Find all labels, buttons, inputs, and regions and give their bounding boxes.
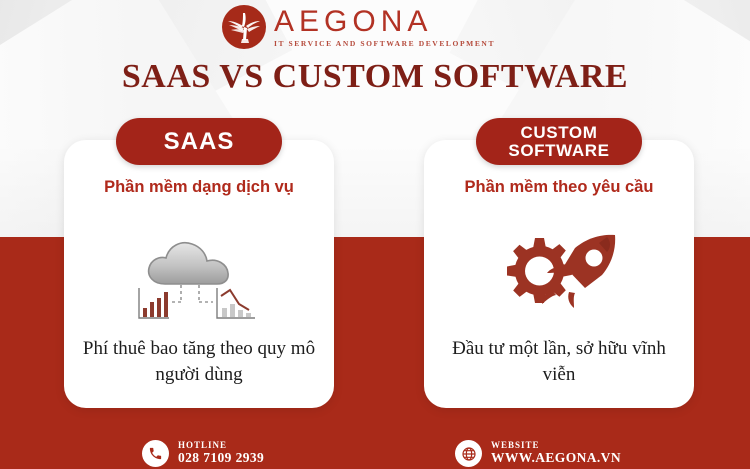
footer-website[interactable]: WEBSITE WWW.AEGONA.VN [455,440,621,467]
card-saas-body: Phí thuê bao tăng theo quy mô người dùng [74,336,324,387]
eagle-logo-icon [222,5,266,49]
pill-saas[interactable]: SAAS [116,118,282,165]
infographic-canvas: AEGONA IT SERVICE AND SOFTWARE DEVELOPME… [0,0,750,469]
phone-icon [142,440,169,467]
page-title: SAAS VS CUSTOM SOFTWARE [0,58,750,96]
brand-logo: AEGONA IT SERVICE AND SOFTWARE DEVELOPME… [222,2,522,52]
footer-hotline[interactable]: HOTLINE 028 7109 2939 [142,440,264,467]
gear-rocket-icon [424,226,694,326]
cloud-analytics-icon [64,226,334,326]
globe-icon [455,440,482,467]
pill-custom-line2: SOFTWARE [476,142,642,160]
card-saas-subtitle: Phần mềm dạng dịch vụ [64,178,334,197]
pill-saas-label: SAAS [164,128,235,155]
logo-wordmark: AEGONA [274,7,495,37]
card-custom-subtitle: Phần mềm theo yêu cầu [424,178,694,197]
logo-tagline: IT SERVICE AND SOFTWARE DEVELOPMENT [274,40,495,48]
footer-website-value: WWW.AEGONA.VN [491,451,621,466]
card-custom-body: Đầu tư một lần, sở hữu vĩnh viễn [434,336,684,387]
footer-hotline-value: 028 7109 2939 [178,451,264,466]
pill-custom-software[interactable]: CUSTOM SOFTWARE [476,118,642,165]
pill-custom-line1: CUSTOM [476,124,642,142]
